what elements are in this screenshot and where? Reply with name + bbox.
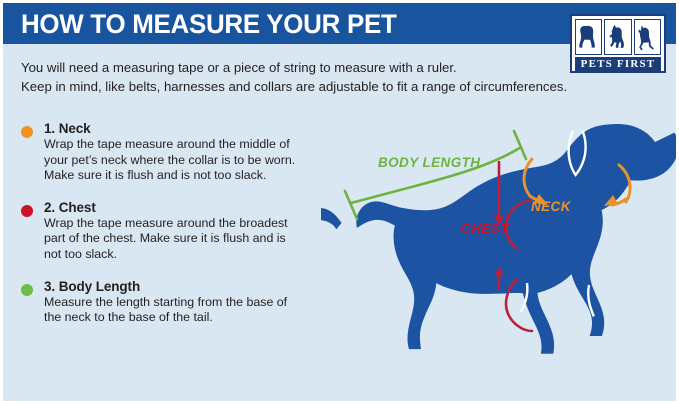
list-item: 3. Body Length Measure the length starti… bbox=[21, 279, 301, 326]
dog-alert-icon bbox=[634, 19, 661, 55]
step-title: 3. Body Length bbox=[44, 279, 301, 294]
logo-wordmark: PETS FIRST bbox=[575, 57, 661, 72]
step-body: Wrap the tape measure around the middle … bbox=[44, 137, 301, 184]
label-chest: CHEST bbox=[461, 221, 509, 236]
list-item: 1. Neck Wrap the tape measure around the… bbox=[21, 121, 301, 184]
dog-sitting-icon bbox=[575, 19, 602, 55]
dog-measurement-diagram: BODY LENGTH NECK CHEST bbox=[321, 107, 676, 401]
measurement-steps-list: 1. Neck Wrap the tape measure around the… bbox=[21, 121, 301, 342]
infographic-canvas: HOW TO MEASURE YOUR PET bbox=[3, 3, 676, 401]
step-body: Measure the length starting from the bas… bbox=[44, 295, 301, 326]
step-title: 1. Neck bbox=[44, 121, 301, 136]
bullet-chest-icon bbox=[21, 205, 33, 217]
step-title: 2. Chest bbox=[44, 200, 301, 215]
intro-line-1: You will need a measuring tape or a piec… bbox=[21, 58, 581, 77]
bullet-body-length-icon bbox=[21, 284, 33, 296]
intro-line-2: Keep in mind, like belts, harnesses and … bbox=[21, 77, 581, 96]
infographic-page: HOW TO MEASURE YOUR PET bbox=[0, 0, 679, 404]
step-body: Wrap the tape measure around the broades… bbox=[44, 216, 301, 263]
brand-logo: PETS FIRST bbox=[570, 14, 666, 73]
dog-begging-icon bbox=[604, 19, 631, 55]
logo-icon-row bbox=[575, 19, 661, 55]
label-neck: NECK bbox=[531, 199, 571, 214]
page-title: HOW TO MEASURE YOUR PET bbox=[21, 9, 396, 40]
label-body-length: BODY LENGTH bbox=[378, 155, 480, 170]
bullet-neck-icon bbox=[21, 126, 33, 138]
intro-paragraph: You will need a measuring tape or a piec… bbox=[21, 58, 581, 96]
list-item: 2. Chest Wrap the tape measure around th… bbox=[21, 200, 301, 263]
